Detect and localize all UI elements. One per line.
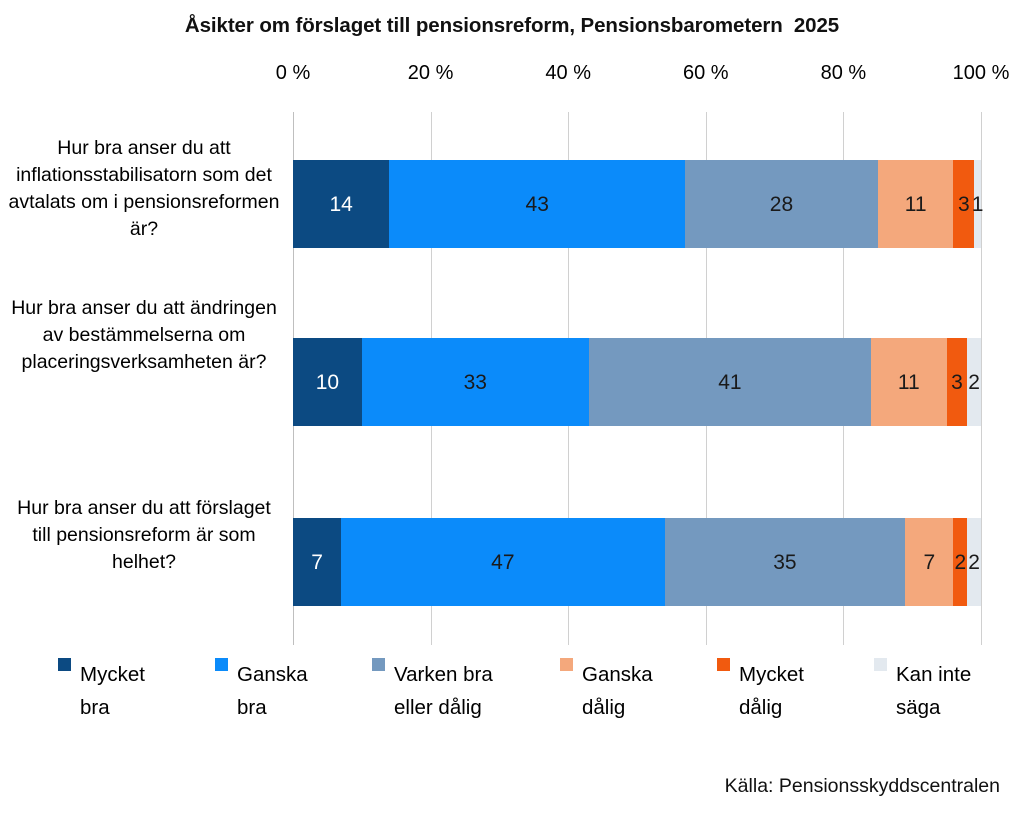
bar-segment[interactable]: 10 [293, 338, 362, 426]
bar-row-1: 1443281131 [293, 160, 981, 248]
bar-segment-value: 11 [905, 194, 927, 215]
bar-row-3: 74735722 [293, 518, 981, 606]
bar-segment[interactable]: 28 [685, 160, 878, 248]
bar-segment[interactable]: 35 [665, 518, 906, 606]
bar-segment-value: 10 [316, 372, 339, 393]
bar-segment-value: 33 [464, 372, 487, 393]
bar-segment-value: 47 [491, 552, 514, 573]
bar-segment-value: 7 [924, 552, 936, 573]
legend-swatch-icon [874, 658, 887, 671]
chart-legend: Mycket braGanska braVarken bra eller dål… [0, 658, 1024, 738]
legend-label: Mycket dålig [739, 658, 804, 724]
bar-segment[interactable]: 33 [362, 338, 589, 426]
legend-swatch-icon [717, 658, 730, 671]
legend-label: Kan inte säga [896, 658, 971, 724]
bar-segment-value: 11 [898, 372, 920, 393]
bar-segment-value: 7 [311, 552, 323, 573]
bar-segment[interactable]: 14 [293, 160, 389, 248]
bar-row-2: 1033411132 [293, 338, 981, 426]
bar-segment[interactable]: 7 [293, 518, 341, 606]
bar-segment[interactable]: 11 [871, 338, 947, 426]
category-label-1: Hur bra anser du att inflationsstabilisa… [8, 135, 280, 243]
bar-segment[interactable]: 11 [878, 160, 954, 248]
bar-segment[interactable]: 41 [589, 338, 871, 426]
bar-segment-value: 43 [526, 194, 549, 215]
legend-item-2[interactable]: Ganska bra [215, 658, 308, 724]
x-axis-tick-labels: 0 %20 %40 %60 %80 %100 % [0, 62, 1024, 92]
legend-swatch-icon [560, 658, 573, 671]
legend-item-4[interactable]: Ganska dålig [560, 658, 653, 724]
legend-item-6[interactable]: Kan inte säga [874, 658, 971, 724]
legend-swatch-icon [215, 658, 228, 671]
x-tick-label-40: 40 % [545, 62, 591, 85]
gridline-100 [981, 112, 982, 645]
x-tick-label-80: 80 % [821, 62, 867, 85]
bar-segment-value: 3 [958, 194, 970, 215]
legend-label: Mycket bra [80, 658, 145, 724]
bar-segment[interactable]: 43 [389, 160, 685, 248]
legend-label: Ganska bra [237, 658, 308, 724]
x-tick-label-0: 0 % [276, 62, 310, 85]
bar-segment[interactable]: 3 [947, 338, 968, 426]
bar-segment[interactable]: 7 [905, 518, 953, 606]
bar-segment-value: 2 [955, 552, 967, 573]
bar-segment[interactable]: 1 [974, 160, 981, 248]
legend-label: Varken bra eller dålig [394, 658, 493, 724]
category-label-2: Hur bra anser du att ändringen av bestäm… [8, 295, 280, 376]
x-tick-label-100: 100 % [953, 62, 1010, 85]
plot-area: 1443281131103341113274735722 [293, 112, 981, 645]
category-label-3: Hur bra anser du att förslaget till pens… [8, 495, 280, 576]
legend-item-3[interactable]: Varken bra eller dålig [372, 658, 493, 724]
x-tick-label-20: 20 % [408, 62, 454, 85]
bar-segment-value: 41 [718, 372, 741, 393]
legend-item-5[interactable]: Mycket dålig [717, 658, 804, 724]
chart-title: Åsikter om förslaget till pensionsreform… [0, 14, 1024, 38]
bar-segment-value: 35 [773, 552, 796, 573]
bar-segment[interactable]: 47 [341, 518, 664, 606]
legend-label: Ganska dålig [582, 658, 653, 724]
x-tick-label-60: 60 % [683, 62, 729, 85]
bar-segment[interactable]: 2 [967, 338, 981, 426]
bar-segment-value: 2 [968, 552, 980, 573]
legend-item-1[interactable]: Mycket bra [58, 658, 145, 724]
bar-segment[interactable]: 3 [953, 160, 974, 248]
bar-segment-value: 14 [329, 194, 352, 215]
source-note: Källa: Pensionsskyddscentralen [725, 775, 1000, 798]
bar-segment[interactable]: 2 [967, 518, 981, 606]
bar-segment-value: 3 [951, 372, 963, 393]
legend-swatch-icon [58, 658, 71, 671]
bar-segment-value: 2 [968, 372, 980, 393]
legend-swatch-icon [372, 658, 385, 671]
bar-segment[interactable]: 2 [953, 518, 967, 606]
bar-segment-value: 28 [770, 194, 793, 215]
